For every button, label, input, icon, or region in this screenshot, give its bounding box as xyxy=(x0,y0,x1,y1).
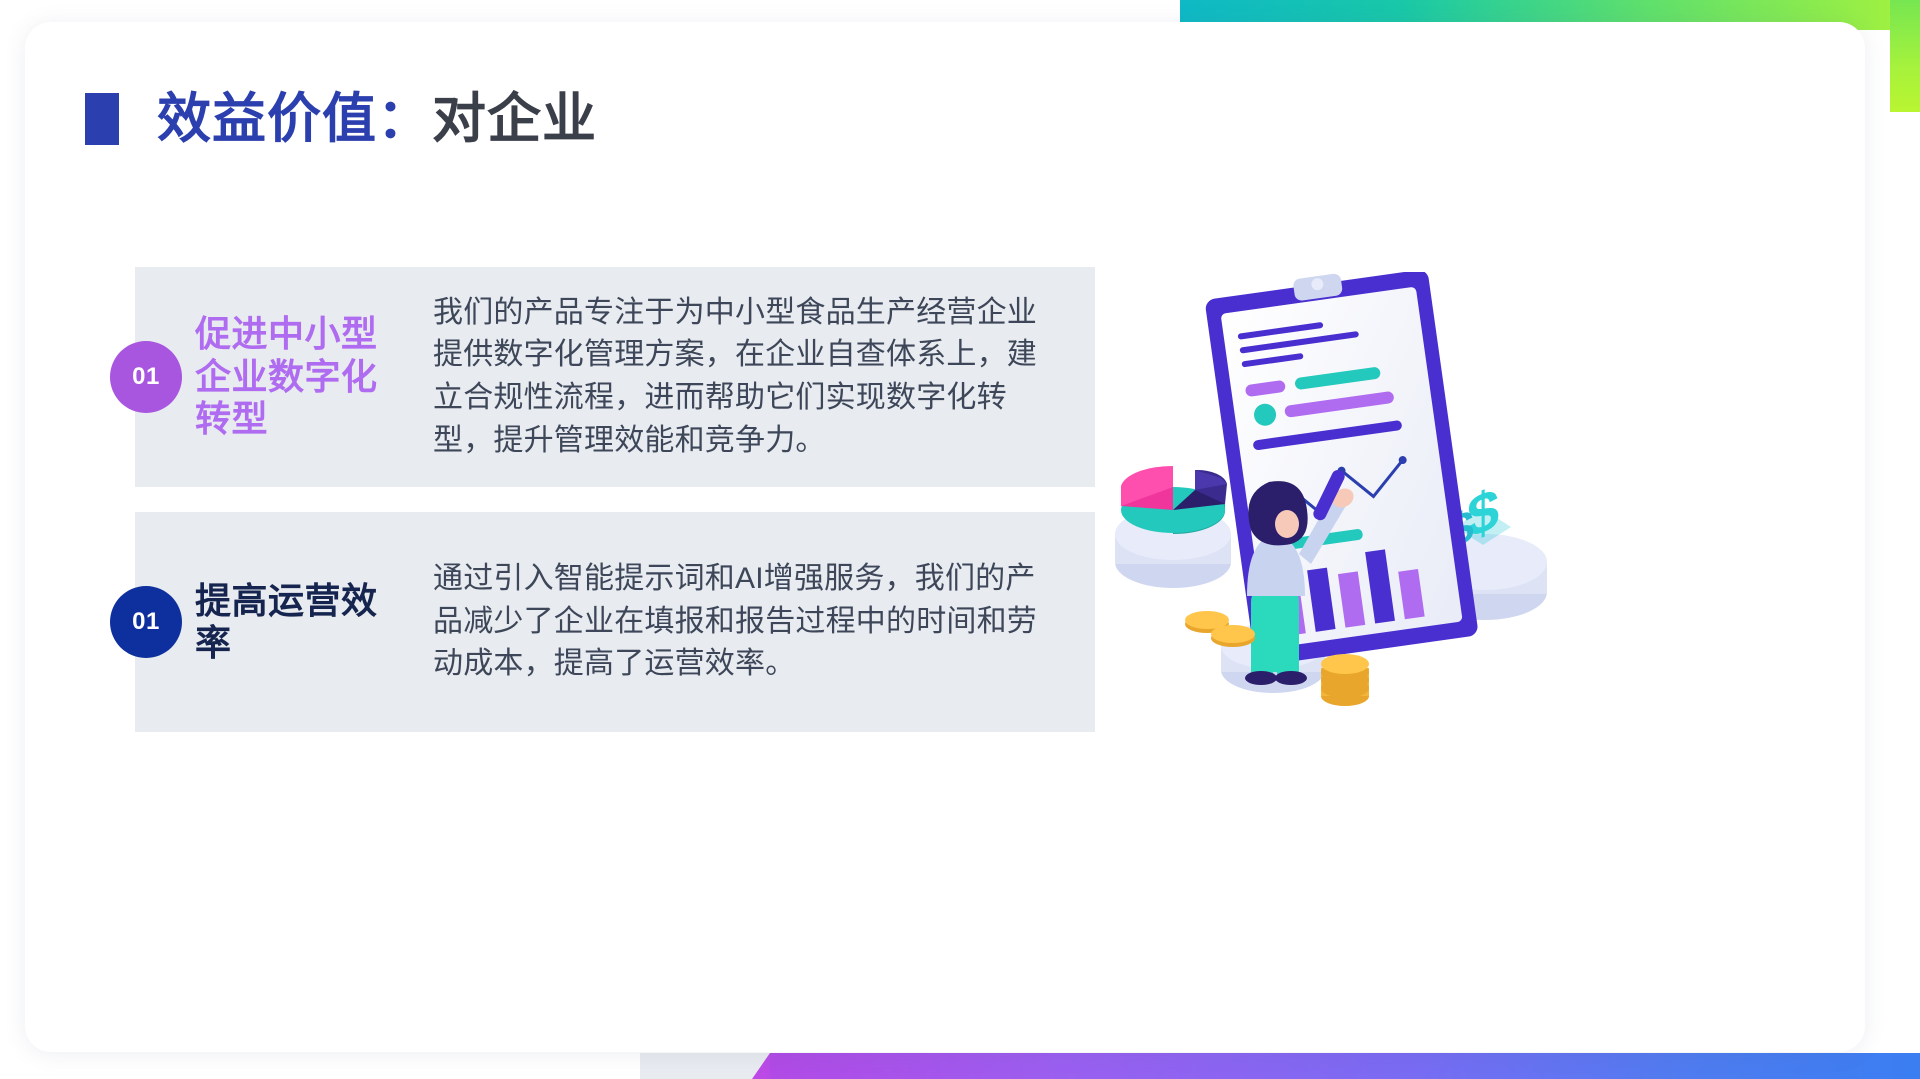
card-body-text: 通过引入智能提示词和AI增强服务，我们的产品减少了企业在填报和报告过程中的时间和… xyxy=(433,558,1065,686)
slide-panel: 效益价值：对企业 01 促进中小型企业数字化转型 我们的产品专注于为中小型食品生… xyxy=(25,22,1865,1052)
right-edge-gradient xyxy=(1890,0,1920,112)
card-title: 促进中小型企业数字化转型 xyxy=(195,313,395,440)
card-title: 提高运营效率 xyxy=(195,580,395,665)
slide-root: 效益价值：对企业 01 促进中小型企业数字化转型 我们的产品专注于为中小型食品生… xyxy=(0,0,1920,1079)
title-sub-text: 对企业 xyxy=(432,89,597,149)
title-bullet-square xyxy=(85,93,119,145)
content-card-list: 01 促进中小型企业数字化转型 我们的产品专注于为中小型食品生产经营企业提供数字… xyxy=(135,267,1095,757)
page-title: 效益价值：对企业 xyxy=(85,92,597,146)
bottom-gradient-bar xyxy=(770,1053,1920,1079)
title-main-text: 效益价值： xyxy=(157,89,432,149)
card-number-badge: 01 xyxy=(110,586,182,658)
card-number-badge: 01 xyxy=(110,341,182,413)
content-card[interactable]: 01 促进中小型企业数字化转型 我们的产品专注于为中小型食品生产经营企业提供数字… xyxy=(135,267,1095,487)
bottom-left-tail xyxy=(640,1053,770,1079)
content-card[interactable]: 01 提高运营效率 通过引入智能提示词和AI增强服务，我们的产品减少了企业在填报… xyxy=(135,512,1095,732)
title-text-group: 效益价值：对企业 xyxy=(157,92,597,146)
card-body-text: 我们的产品专注于为中小型食品生产经营企业提供数字化管理方案，在企业自查体系上，建… xyxy=(433,292,1065,462)
business-analytics-illustration: $ $ xyxy=(1055,272,1575,772)
